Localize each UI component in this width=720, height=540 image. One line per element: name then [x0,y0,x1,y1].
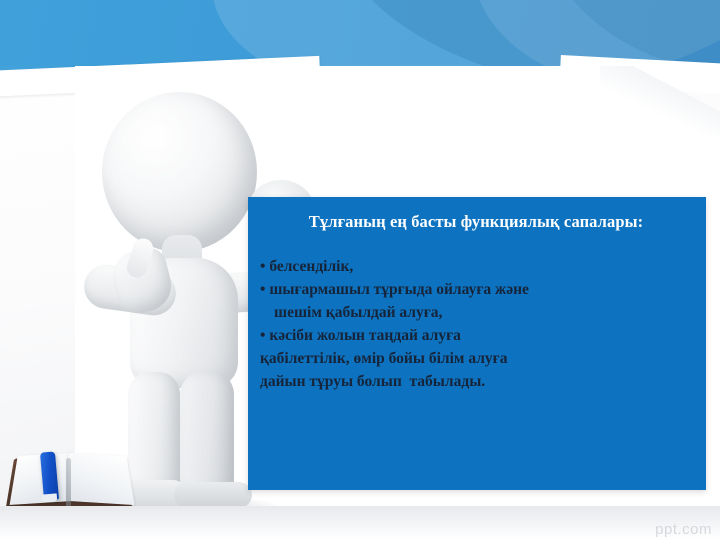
blue-text-box: Тұлғаның ең басты функциялық сапалары: б… [248,197,706,490]
footer-shelf [0,506,720,540]
bullet-list: белсенділік, шығармашыл тұрғыда ойлауға … [260,256,692,393]
list-item: белсенділік, [260,256,692,278]
figure-head [102,92,257,252]
watermark: ppt.com [655,521,712,538]
book-spine [66,458,71,510]
list-item: қабілеттілік, өмір бойы білім алуға [260,348,692,370]
slide-canvas: Тұлғаның ең басты функциялық сапалары: б… [0,0,720,540]
box-title: Тұлғаның ең басты функциялық сапалары: [260,211,692,232]
list-item: шығармашыл тұрғыда ойлауға және [260,279,692,301]
list-item: шешім қабылдай алуға, [260,302,692,324]
figure-leg-right [180,372,234,496]
list-item: кәсіби жолын таңдай алуға [260,325,692,347]
figure-foot-right [174,482,252,508]
list-item: дайын тұруы болып табылады. [260,371,692,393]
book-page-right [68,453,134,505]
pen-cap [42,493,58,502]
